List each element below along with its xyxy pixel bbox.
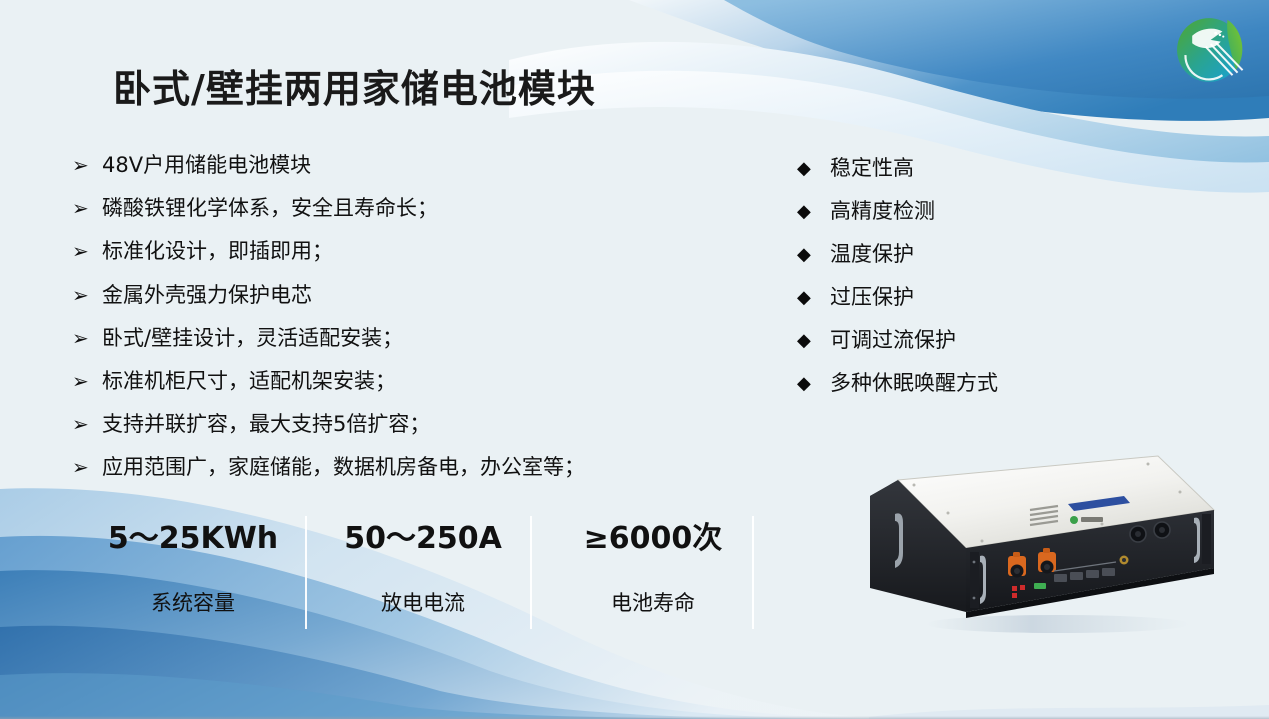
list-item: ➢ 金属外壳强力保护电芯 — [72, 282, 712, 325]
arrow-bullet-icon: ➢ — [72, 282, 102, 309]
stat-value: ≥6000次 — [584, 513, 723, 557]
list-item-label: 过压保护 — [830, 284, 914, 311]
list-item-label: 应用范围广，家庭储能，数据机房备电，办公室等； — [102, 454, 585, 481]
stat-label: 系统容量 — [151, 587, 235, 617]
diamond-bullet-icon: ◆ — [797, 370, 830, 397]
arrow-bullet-icon: ➢ — [72, 454, 102, 481]
list-item-label: 温度保护 — [830, 241, 914, 268]
diamond-bullet-icon: ◆ — [797, 198, 830, 225]
list-item-label: 标准机柜尺寸，适配机架安装； — [102, 368, 396, 395]
list-item-label: 卧式/壁挂设计，灵活适配安装； — [102, 325, 403, 352]
arrow-bullet-icon: ➢ — [72, 368, 102, 395]
list-item: ➢ 支持并联扩容，最大支持5倍扩容； — [72, 411, 712, 454]
key-specs-row: 5～25KWh 系统容量 50～250A 放电电流 ≥6000次 电池寿命 — [78, 513, 768, 631]
wave-decoration-bottom-right — [869, 659, 1269, 719]
list-item: ◆ 稳定性高 — [797, 155, 1097, 198]
stat-discharge-current: 50～250A 放电电流 — [308, 513, 538, 631]
list-item: ◆ 高精度检测 — [797, 198, 1097, 241]
feature-list-left: ➢ 48V户用储能电池模块 ➢ 磷酸铁锂化学体系，安全且寿命长； ➢ 标准化设计… — [72, 152, 712, 498]
page-title: 卧式/壁挂两用家储电池模块 — [113, 58, 596, 113]
stat-value: 50～250A — [344, 513, 502, 557]
arrow-bullet-icon: ➢ — [72, 411, 102, 438]
list-item: ◆ 过压保护 — [797, 284, 1097, 327]
list-item-label: 高精度检测 — [830, 198, 935, 225]
list-item-label: 磷酸铁锂化学体系，安全且寿命长； — [102, 195, 438, 222]
feature-list-right: ◆ 稳定性高 ◆ 高精度检测 ◆ 温度保护 ◆ 过压保护 ◆ 可调过流保护 ◆ … — [797, 155, 1097, 413]
arrow-bullet-icon: ➢ — [72, 195, 102, 222]
stat-label: 电池寿命 — [611, 587, 695, 617]
stat-capacity: 5～25KWh 系统容量 — [78, 513, 308, 631]
list-item-label: 标准化设计，即插即用； — [102, 238, 333, 265]
arrow-bullet-icon: ➢ — [72, 325, 102, 352]
company-logo-icon — [1167, 8, 1251, 92]
arrow-bullet-icon: ➢ — [72, 152, 102, 179]
list-item-label: 支持并联扩容，最大支持5倍扩容； — [102, 411, 430, 438]
stat-value: 5～25KWh — [108, 513, 278, 557]
list-item-label: 金属外壳强力保护电芯 — [102, 282, 312, 309]
list-item: ➢ 磷酸铁锂化学体系，安全且寿命长； — [72, 195, 712, 238]
list-item: ➢ 标准机柜尺寸，适配机架安装； — [72, 368, 712, 411]
list-item: ➢ 应用范围广，家庭储能，数据机房备电，办公室等； — [72, 454, 712, 497]
stat-label: 放电电流 — [381, 587, 465, 617]
arrow-bullet-icon: ➢ — [72, 238, 102, 265]
list-item: ◆ 可调过流保护 — [797, 327, 1097, 370]
list-item: ◆ 温度保护 — [797, 241, 1097, 284]
list-item-label: 可调过流保护 — [830, 327, 956, 354]
list-item: ➢ 标准化设计，即插即用； — [72, 238, 712, 281]
list-item-label: 稳定性高 — [830, 155, 914, 182]
list-item-label: 多种休眠唤醒方式 — [830, 370, 998, 397]
list-item: ◆ 多种休眠唤醒方式 — [797, 370, 1097, 413]
diamond-bullet-icon: ◆ — [797, 241, 830, 268]
diamond-bullet-icon: ◆ — [797, 155, 830, 182]
battery-module-photo — [862, 452, 1222, 642]
list-item: ➢ 48V户用储能电池模块 — [72, 152, 712, 195]
list-item: ➢ 卧式/壁挂设计，灵活适配安装； — [72, 325, 712, 368]
diamond-bullet-icon: ◆ — [797, 284, 830, 311]
diamond-bullet-icon: ◆ — [797, 327, 830, 354]
slide-canvas: 卧式/壁挂两用家储电池模块 ➢ 48V户用储能电池模块 ➢ 磷酸铁锂化学体系，安… — [0, 0, 1269, 719]
list-item-label: 48V户用储能电池模块 — [102, 152, 311, 179]
stat-cycle-life: ≥6000次 电池寿命 — [538, 513, 768, 631]
